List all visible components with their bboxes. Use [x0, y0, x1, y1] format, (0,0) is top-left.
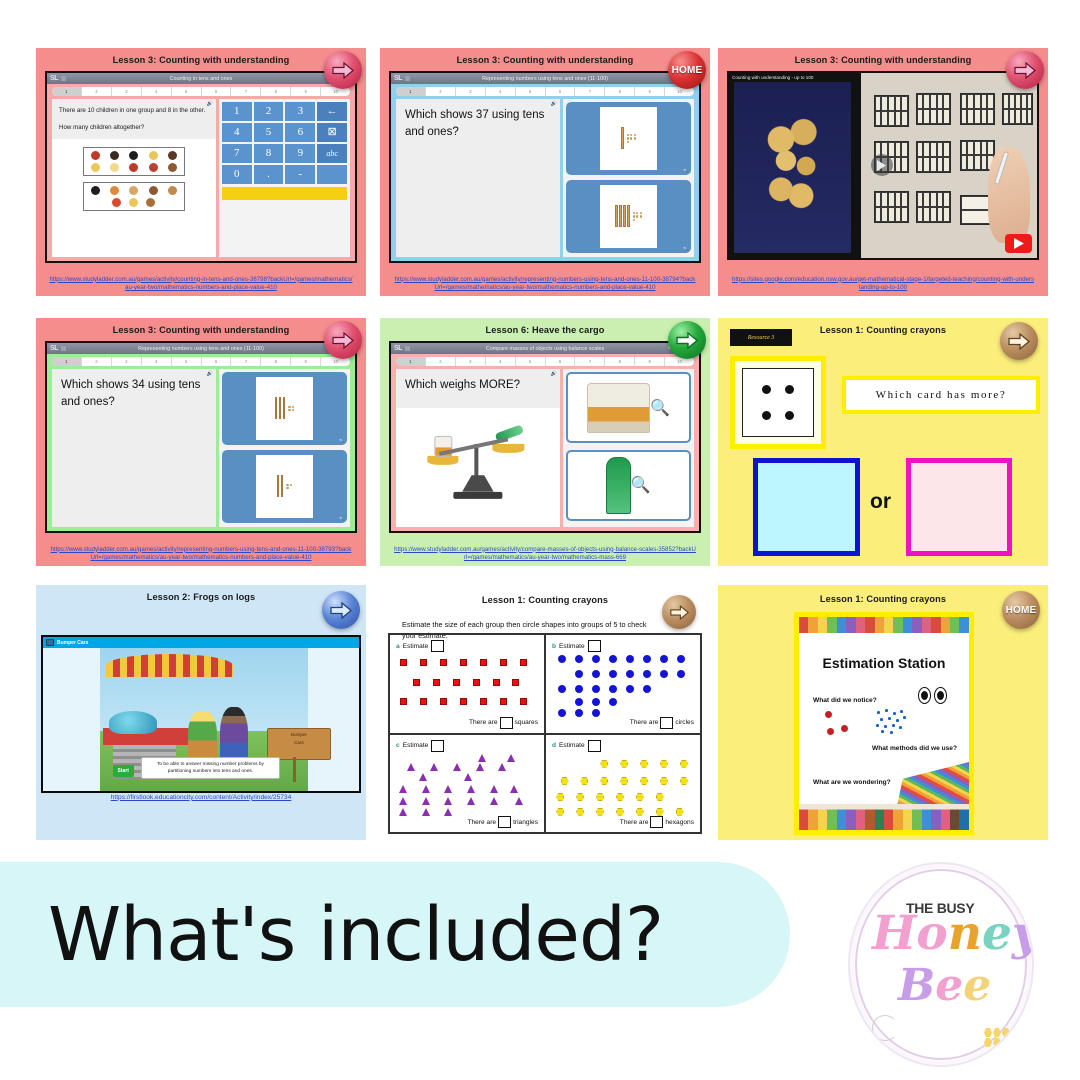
speaker-icon[interactable]: 🔊	[551, 101, 557, 107]
page-3[interactable]: 3	[456, 87, 486, 96]
count-row: There are hexagons	[620, 816, 694, 828]
pencil-border-bottom	[799, 804, 969, 830]
card-title: Lesson 3: Counting with understanding	[36, 48, 366, 65]
magnify-icon[interactable]: 🔍	[339, 516, 344, 521]
key-1[interactable]: 1	[222, 102, 252, 121]
home-button-label: HOME	[1006, 605, 1037, 616]
key-clear[interactable]: ⊠	[317, 123, 347, 142]
page-1[interactable]: 1	[52, 87, 82, 96]
page-3[interactable]: 3	[112, 357, 142, 366]
arrow-right-icon	[1014, 62, 1036, 79]
arrow-right-icon	[332, 332, 354, 349]
poster-title: Estimation Station	[799, 655, 969, 671]
objective-speech-bubble: To be able to answer missing number prob…	[141, 757, 280, 779]
page-stepper[interactable]: 1 2 3 4 5 6 7 8 9 10	[396, 357, 694, 366]
app-panes: 🔊 Which weighs MORE?	[396, 369, 694, 527]
estimate-row: b Estimate	[552, 640, 694, 652]
poster-question-3: What are we wondering?	[813, 779, 891, 786]
question-text-block: Which weighs MORE?	[396, 369, 560, 408]
logo-bee-text: Bee	[898, 960, 991, 1011]
preview-card-6[interactable]: Lesson 1: Counting crayons Resource 3 Wh…	[718, 318, 1048, 566]
home-button[interactable]: HOME	[668, 51, 706, 89]
choice-option-flour[interactable]: 🔍	[566, 372, 691, 443]
page-5[interactable]: 5	[516, 357, 546, 366]
app-name: Counting in tens and ones	[47, 76, 355, 82]
page-7[interactable]: 7	[575, 357, 605, 366]
start-button-label: Start	[118, 768, 129, 774]
page-2[interactable]: 2	[426, 357, 456, 366]
play-icon	[1014, 238, 1024, 249]
magnify-icon[interactable]: 🔍	[631, 475, 651, 495]
key-backspace[interactable]: ←	[317, 102, 347, 121]
key-decimal[interactable]: .	[254, 165, 284, 184]
bottle-image	[606, 457, 630, 514]
key-6[interactable]: 6	[285, 123, 315, 142]
educationcity-game-window[interactable]: Bumper Cars Bumper Cars T	[41, 635, 361, 793]
shape-noun: hexagons	[665, 819, 694, 826]
estimate-label: Estimate	[403, 643, 429, 650]
choice-content	[256, 377, 312, 440]
preview-card-3[interactable]: Lesson 3: Counting with understanding	[718, 48, 1048, 296]
choice-option-2[interactable]: 🔍	[222, 450, 347, 523]
app-body: 1 2 3 4 5 6 7 8 9 10 🔊 Which	[47, 354, 355, 531]
question-banner: Which card has more?	[842, 376, 1040, 414]
page-6[interactable]: 6	[202, 357, 232, 366]
worksheet-grid: a Estimate	[388, 633, 702, 834]
bumper-cars-sign: Bumper Cars	[267, 728, 330, 759]
estimate-row: a Estimate	[396, 640, 538, 652]
page-7[interactable]: 7	[231, 87, 261, 96]
page-4[interactable]: 4	[486, 87, 516, 96]
next-arrow-button[interactable]	[324, 51, 362, 89]
app-body: 1 2 3 4 5 6 7 8 9 10 🔊	[47, 84, 355, 261]
estimate-row: d Estimate	[552, 740, 694, 752]
play-button[interactable]	[871, 154, 893, 176]
sign-post	[293, 757, 296, 783]
choices-pane[interactable]: 🔍	[219, 369, 350, 527]
preview-card-grid: Lesson 3: Counting with understanding SL…	[0, 0, 1080, 855]
youtube-badge[interactable]	[1005, 234, 1032, 253]
next-arrow-button[interactable]	[668, 321, 706, 359]
banner-headline: What's included?	[0, 892, 663, 978]
sign-line-2: Cars	[294, 740, 304, 745]
estimate-input[interactable]	[588, 640, 601, 652]
game-scene: Bumper Cars To be able to answer missing…	[43, 648, 359, 791]
shape-field-hexagons	[552, 754, 694, 816]
estimate-row: c Estimate	[396, 740, 538, 752]
key-5[interactable]: 5	[254, 123, 284, 142]
choice-option-bottle[interactable]: 🔍	[566, 450, 691, 521]
question-pane: 🔊 Which shows 34 using tens and ones?	[52, 369, 216, 527]
count-input[interactable]	[660, 717, 673, 729]
source-url-link[interactable]: https://www.studyladder.com.au/games/act…	[49, 276, 353, 292]
shape-noun: circles	[675, 719, 694, 726]
numeric-keypad[interactable]: 1 2 3 ← 4 5 6 ⊠ 7 8 9 ab	[222, 102, 347, 184]
choices-pane[interactable]: 🔍 🔍	[563, 369, 694, 527]
question-pane: 🔊 Which shows 37 using tens and ones?	[396, 99, 560, 257]
children-group-2	[83, 182, 185, 211]
app-panes: 🔊 Which shows 34 using tens and ones?	[52, 369, 350, 527]
estimate-input[interactable]	[431, 740, 444, 752]
tens-rods	[615, 205, 630, 227]
preview-card-2[interactable]: Lesson 3: Counting with understanding HO…	[380, 48, 710, 296]
count-input[interactable]	[650, 816, 663, 828]
page-7[interactable]: 7	[231, 357, 261, 366]
estimate-input[interactable]	[431, 640, 444, 652]
flour-bag-image	[587, 383, 650, 433]
preview-card-4[interactable]: Lesson 3: Counting with understanding SL…	[36, 318, 366, 566]
worksheet-cell-b: b Estimate	[545, 634, 701, 734]
count-row: There are triangles	[467, 816, 538, 828]
preview-card-8[interactable]: Lesson 1: Counting crayons Estimate the …	[380, 585, 710, 840]
key-minus[interactable]: -	[285, 165, 315, 184]
arrow-right-icon	[1008, 333, 1030, 350]
app-titlebar: SL Representing numbers using tens and o…	[47, 343, 355, 354]
objective-text: To be able to answer missing number prob…	[157, 762, 264, 774]
question-pane: 🔊 Which weighs MORE?	[396, 369, 560, 527]
speaker-icon[interactable]: 🔊	[551, 371, 557, 377]
ferris-tent-roof	[106, 654, 232, 677]
home-button[interactable]: HOME	[1002, 591, 1040, 629]
magnify-icon[interactable]: 🔍	[339, 438, 344, 443]
page-6[interactable]: 6	[546, 357, 576, 366]
ones-dots	[288, 406, 294, 412]
there-are-label: There are	[469, 719, 498, 726]
eyes-illustration	[918, 687, 947, 704]
page-1[interactable]: 1	[396, 357, 426, 366]
app-name: Compare masses of objects using balance …	[391, 346, 699, 352]
count-input[interactable]	[500, 717, 513, 729]
blue-dot-cluster	[875, 709, 909, 735]
there-are-label: There are	[630, 719, 659, 726]
key-3[interactable]: 3	[285, 102, 315, 121]
studyladder-app-window[interactable]: SL Representing numbers using tens and o…	[45, 341, 357, 533]
arrow-right-icon	[332, 62, 354, 79]
page-2[interactable]: 2	[82, 87, 112, 96]
key-0[interactable]: 0	[222, 165, 252, 184]
question-text: Which weighs MORE?	[405, 377, 551, 394]
question-pane: 🔊 There are 10 children in one group and…	[52, 99, 216, 257]
tens-rods	[277, 475, 284, 497]
card-title: Lesson 3: Counting with understanding	[36, 318, 366, 335]
video-pasta-panel	[734, 82, 851, 253]
poster-question-1: What did we notice?	[813, 697, 877, 704]
answer-input[interactable]	[222, 187, 347, 200]
estimate-input[interactable]	[588, 740, 601, 752]
cell-letter: b	[552, 643, 556, 650]
question-line-2: How many children altogether?	[59, 122, 209, 133]
game-window-title: Bumper Cars	[57, 640, 88, 646]
eye-right	[934, 687, 947, 704]
brand-logo: THE BUSY Honey Bee	[848, 862, 1034, 1067]
magnify-icon[interactable]: 🔍	[683, 168, 688, 173]
page-stepper[interactable]: 1 2 3 4 5 6 7 8 9 10	[52, 87, 350, 96]
ones-dots	[633, 212, 642, 221]
children-group-1	[83, 147, 185, 176]
arrow-right-icon	[330, 602, 352, 619]
page-7[interactable]: 7	[575, 87, 605, 96]
page-9[interactable]: 9	[291, 87, 321, 96]
logo-honeycomb-icon	[984, 1028, 1010, 1047]
game-titlebar: Bumper Cars	[43, 637, 359, 648]
studyladder-app-window[interactable]: SL Counting in tens and ones ☖ 1 2 3 4 5…	[45, 71, 357, 263]
app-body: 1 2 3 4 5 6 7 8 9 10 🔊	[391, 354, 699, 531]
estimation-station-poster: Estimation Station What did we notice?	[794, 612, 974, 835]
page-9[interactable]: 9	[291, 357, 321, 366]
shape-field-circles	[552, 654, 694, 716]
start-button[interactable]: Start	[113, 765, 134, 777]
next-arrow-button[interactable]	[662, 595, 696, 629]
arrow-right-icon	[670, 605, 689, 620]
game-icon	[46, 639, 54, 646]
video-caption: Counting with understanding - up to 100	[732, 75, 813, 80]
page-5[interactable]: 5	[516, 87, 546, 96]
preview-card-1[interactable]: Lesson 3: Counting with understanding SL…	[36, 48, 366, 296]
cell-letter: d	[552, 742, 556, 749]
card-title: Lesson 6: Heave the cargo	[380, 318, 710, 335]
page-8[interactable]: 8	[261, 357, 291, 366]
page-5[interactable]: 5	[172, 87, 202, 96]
choice-content	[600, 107, 656, 170]
studyladder-app-window[interactable]: SL Representing numbers using tens and o…	[389, 71, 701, 263]
page-stepper[interactable]: 1 2 3 4 5 6 7 8 9 10	[396, 87, 694, 96]
question-text: Which shows 34 using tens and ones?	[52, 369, 216, 419]
estimate-label: Estimate	[403, 742, 429, 749]
dot	[762, 385, 771, 394]
video-embed[interactable]: Counting with understanding - up to 100	[727, 71, 1039, 260]
dot-pattern-inner	[742, 368, 814, 437]
tens-rods	[275, 397, 286, 419]
page-8[interactable]: 8	[261, 87, 291, 96]
app-titlebar: SL Compare masses of objects using balan…	[391, 343, 699, 354]
card-title: Lesson 2: Frogs on logs	[36, 585, 366, 602]
next-arrow-button[interactable]	[324, 321, 362, 359]
app-panes: 🔊 Which shows 37 using tens and ones?	[396, 99, 694, 257]
shape-noun: triangles	[513, 819, 538, 826]
key-9[interactable]: 9	[285, 144, 315, 163]
choices-pane[interactable]: 🔍	[563, 99, 694, 257]
shape-noun: squares	[515, 719, 538, 726]
source-url-link[interactable]: https://www.studyladder.com.au/games/act…	[393, 546, 697, 562]
dot	[785, 411, 794, 420]
app-titlebar: SL Counting in tens and ones ☖	[47, 73, 355, 84]
preview-card-5[interactable]: Lesson 6: Heave the cargo SL Compare mas…	[380, 318, 710, 566]
question-text: Which card has more?	[876, 389, 1007, 401]
home-button-label: HOME	[672, 65, 703, 76]
bumper-car	[109, 711, 156, 734]
page-6[interactable]: 6	[202, 87, 232, 96]
choice-option-1[interactable]: 🔍	[566, 102, 691, 175]
choice-content	[600, 185, 656, 248]
play-icon	[877, 160, 886, 171]
page-4[interactable]: 4	[142, 357, 172, 366]
there-are-label: There are	[467, 819, 496, 826]
or-label: or	[870, 490, 891, 514]
page-8[interactable]: 8	[605, 87, 635, 96]
speaker-icon[interactable]: 🔊	[207, 371, 213, 377]
source-url-link[interactable]: https://sites.google.com/education.nsw.g…	[731, 276, 1035, 292]
card-title: Lesson 3: Counting with understanding	[718, 48, 1048, 65]
key-8[interactable]: 8	[254, 144, 284, 163]
arrow-right-icon	[676, 332, 698, 349]
page-3[interactable]: 3	[112, 87, 142, 96]
question-line-1: There are 10 children in one group and 8…	[59, 105, 209, 116]
page-2[interactable]: 2	[426, 87, 456, 96]
next-arrow-button[interactable]	[1006, 51, 1044, 89]
red-dot-cluster	[825, 711, 869, 737]
app-name: Representing numbers using tens and ones…	[391, 76, 699, 82]
question-text-block: There are 10 children in one group and 8…	[52, 99, 216, 139]
question-text: Which shows 37 using tens and ones?	[396, 99, 560, 149]
balance-scale	[417, 420, 538, 502]
worksheet-cell-d: d Estimate	[545, 734, 701, 834]
key-abc[interactable]: abc	[317, 144, 347, 163]
page-4[interactable]: 4	[142, 87, 172, 96]
card-title: Lesson 1: Counting crayons	[718, 318, 1048, 335]
source-url-link[interactable]: https://www.studyladder.com.au/games/act…	[49, 546, 353, 562]
option-card-blue[interactable]	[753, 458, 860, 556]
ones-dots	[627, 134, 636, 143]
count-input[interactable]	[498, 816, 511, 828]
page-4[interactable]: 4	[486, 357, 516, 366]
eye-left	[918, 687, 931, 704]
app-panes: 🔊 There are 10 children in one group and…	[52, 99, 350, 257]
count-row: There are circles	[630, 717, 694, 729]
estimate-label: Estimate	[559, 643, 585, 650]
page-9[interactable]: 9	[635, 357, 665, 366]
count-row: There are squares	[469, 717, 538, 729]
logo-swirl-icon	[872, 1015, 898, 1041]
worksheet-cell-a: a Estimate	[389, 634, 545, 734]
shape-field-triangles	[396, 754, 538, 816]
page-9[interactable]: 9	[635, 87, 665, 96]
key-blank[interactable]	[317, 165, 347, 184]
page-1[interactable]: 1	[52, 357, 82, 366]
keypad-pane[interactable]: 1 2 3 ← 4 5 6 ⊠ 7 8 9 ab	[219, 99, 350, 257]
app-body: 1 2 3 4 5 6 7 8 9 10 🔊 Which	[391, 84, 699, 261]
cell-letter: a	[396, 643, 400, 650]
next-arrow-button[interactable]	[1000, 322, 1038, 360]
whats-included-banner: What's included?	[0, 862, 790, 1007]
source-url-link[interactable]: https://firstlook.educationcity.com/cont…	[49, 794, 353, 802]
dot	[785, 385, 794, 394]
magnify-icon[interactable]: 🔍	[683, 246, 688, 251]
next-arrow-button[interactable]	[322, 591, 360, 629]
studyladder-app-window[interactable]: SL Compare masses of objects using balan…	[389, 341, 701, 533]
app-name: Representing numbers using tens and ones…	[47, 346, 355, 352]
cell-letter: c	[396, 742, 400, 749]
coloured-pencils-image	[897, 762, 969, 806]
key-2[interactable]: 2	[254, 102, 284, 121]
preview-card-7[interactable]: Lesson 2: Frogs on logs Bumper Cars	[36, 585, 366, 840]
magnify-icon[interactable]: 🔍	[650, 398, 670, 418]
poster-question-2: What methods did we use?	[872, 745, 957, 752]
page-6[interactable]: 6	[546, 87, 576, 96]
dot-pattern-card	[730, 356, 826, 449]
card-title: Lesson 1: Counting crayons	[718, 585, 1048, 604]
page-2[interactable]: 2	[82, 357, 112, 366]
page-5[interactable]: 5	[172, 357, 202, 366]
option-card-pink[interactable]	[906, 458, 1012, 556]
logo-honey-text: Honey	[872, 906, 1034, 961]
speaker-icon[interactable]: 🔊	[207, 101, 213, 107]
key-4[interactable]: 4	[222, 123, 252, 142]
page-3[interactable]: 3	[456, 357, 486, 366]
crayon-border-top	[799, 617, 969, 633]
preview-card-9[interactable]: Lesson 1: Counting crayons HOME Estimati…	[718, 585, 1048, 840]
page-stepper[interactable]: 1 2 3 4 5 6 7 8 9 10	[52, 357, 350, 366]
app-titlebar: SL Representing numbers using tens and o…	[391, 73, 699, 84]
worksheet-cell-c: c Estimate	[389, 734, 545, 834]
slide-canvas: Lesson 3: Counting with understanding SL…	[0, 0, 1080, 1080]
choice-option-2[interactable]: 🔍	[566, 180, 691, 253]
choice-option-1[interactable]: 🔍	[222, 372, 347, 445]
sign-line-1: Bumper	[291, 732, 307, 737]
dot	[762, 411, 771, 420]
hand-with-marker	[988, 147, 1030, 243]
key-7[interactable]: 7	[222, 144, 252, 163]
ones-dots	[286, 484, 292, 490]
page-8[interactable]: 8	[605, 357, 635, 366]
card-title: Lesson 3: Counting with understanding	[380, 48, 710, 65]
shape-field-squares	[396, 654, 538, 716]
source-url-link[interactable]: https://www.studyladder.com.au/games/act…	[393, 276, 697, 292]
estimate-label: Estimate	[559, 742, 585, 749]
choice-content	[256, 455, 312, 518]
page-1[interactable]: 1	[396, 87, 426, 96]
there-are-label: There are	[620, 819, 649, 826]
tens-rods	[621, 127, 624, 149]
card-title: Lesson 1: Counting crayons	[380, 585, 710, 605]
